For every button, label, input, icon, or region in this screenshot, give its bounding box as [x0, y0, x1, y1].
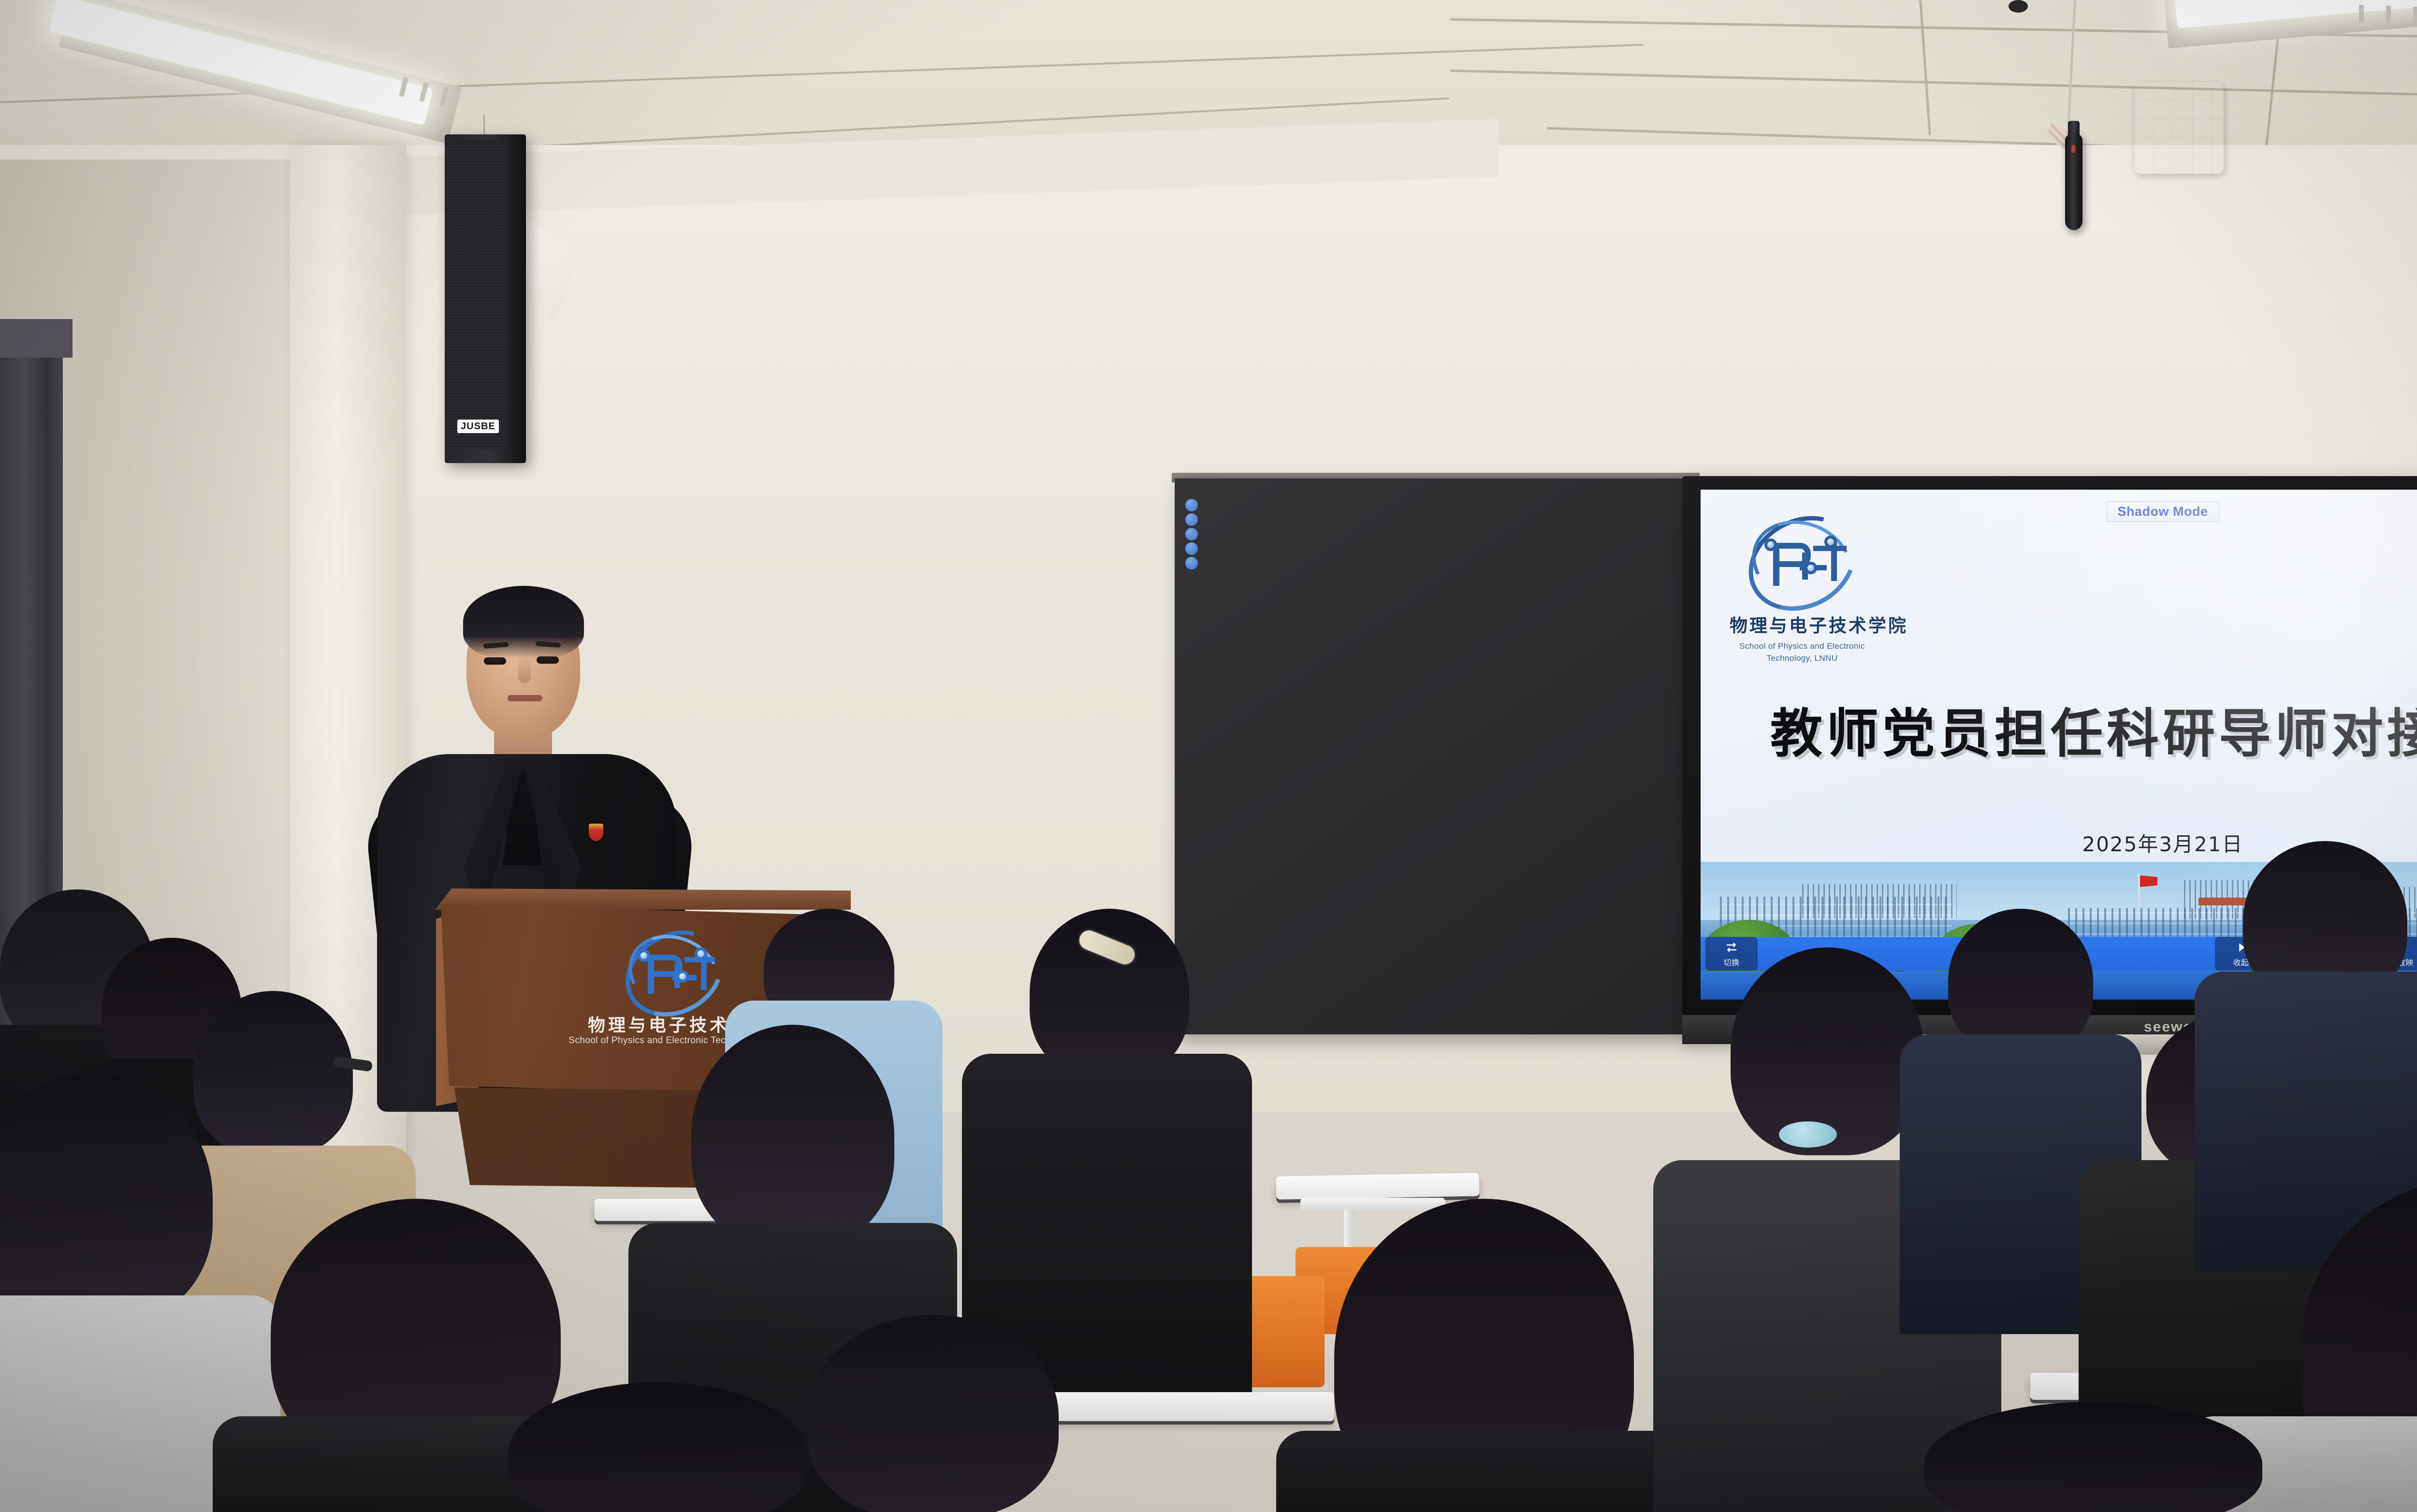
magnet-icon[interactable] — [1185, 499, 1198, 511]
desk-arm — [1300, 1198, 1445, 1211]
slide-title: 教师党员担任科研导师对接仪式 — [1701, 692, 2417, 767]
speaker-eye — [484, 657, 506, 665]
light-comb — [2359, 5, 2364, 22]
microphone-led-icon — [2071, 145, 2075, 153]
audience-person-hair — [1948, 909, 2093, 1054]
audience-person-hair — [1731, 947, 1924, 1155]
magnet-icon[interactable] — [1185, 528, 1198, 540]
podium-pet-logo-icon — [624, 933, 725, 1014]
slide-logo: 物理与电子技术学院 School of Physics and Electron… — [1730, 519, 1875, 664]
photo-flagpole — [2138, 873, 2140, 907]
classroom-scene: JUSBE Shadow Mode — [0, 0, 2417, 1512]
slide-logo-name-en-1: School of Physics and Electronic — [1730, 641, 1875, 652]
photo-flag-icon — [2140, 875, 2157, 887]
speaker-hair — [463, 586, 584, 658]
light-comb — [2413, 7, 2417, 24]
audience-person-hair — [807, 1315, 1059, 1512]
audience-person-body — [1276, 1431, 1702, 1512]
window-frame — [0, 319, 73, 358]
speaker-mouth — [508, 695, 542, 701]
ceiling-sensor-icon — [2009, 0, 2028, 13]
speaker-grille-icon — [449, 139, 507, 449]
ceiling-access-panel — [2134, 82, 2224, 174]
audience-person-hair — [691, 1025, 894, 1247]
speaker-brand-label: JUSBE — [457, 420, 499, 433]
magnet-icon[interactable] — [1185, 542, 1198, 555]
wall-speaker: JUSBE — [445, 134, 526, 463]
audience-person-hair — [1030, 909, 1189, 1078]
slide-logo-name-en-2: Technology, LNNU — [1730, 653, 1875, 664]
hair-tie-icon — [1779, 1121, 1837, 1148]
party-member-pin-icon — [589, 824, 603, 841]
speaker-cable — [483, 115, 485, 136]
slide-logo-name-cn: 物理与电子技术学院 — [1730, 611, 1875, 637]
switch-icon — [1724, 940, 1739, 955]
magnet-icon[interactable] — [1185, 557, 1198, 569]
desk — [1276, 1173, 1480, 1199]
blackboard — [1175, 479, 1696, 1034]
light-comb — [2386, 6, 2391, 23]
pet-logo-icon — [1747, 519, 1858, 608]
speaker-nose — [518, 655, 531, 683]
speaker-eye — [537, 656, 559, 664]
toolbar-switch-button[interactable]: 切换 — [1705, 937, 1758, 971]
shadow-mode-badge: Shadow Mode — [2107, 501, 2219, 522]
toolbar-switch-label: 切换 — [1723, 956, 1739, 968]
magnet-icon[interactable] — [1185, 513, 1198, 526]
audience-person-hair — [193, 991, 353, 1155]
toolbar-group-left[interactable]: 切换 — [1705, 937, 1758, 971]
